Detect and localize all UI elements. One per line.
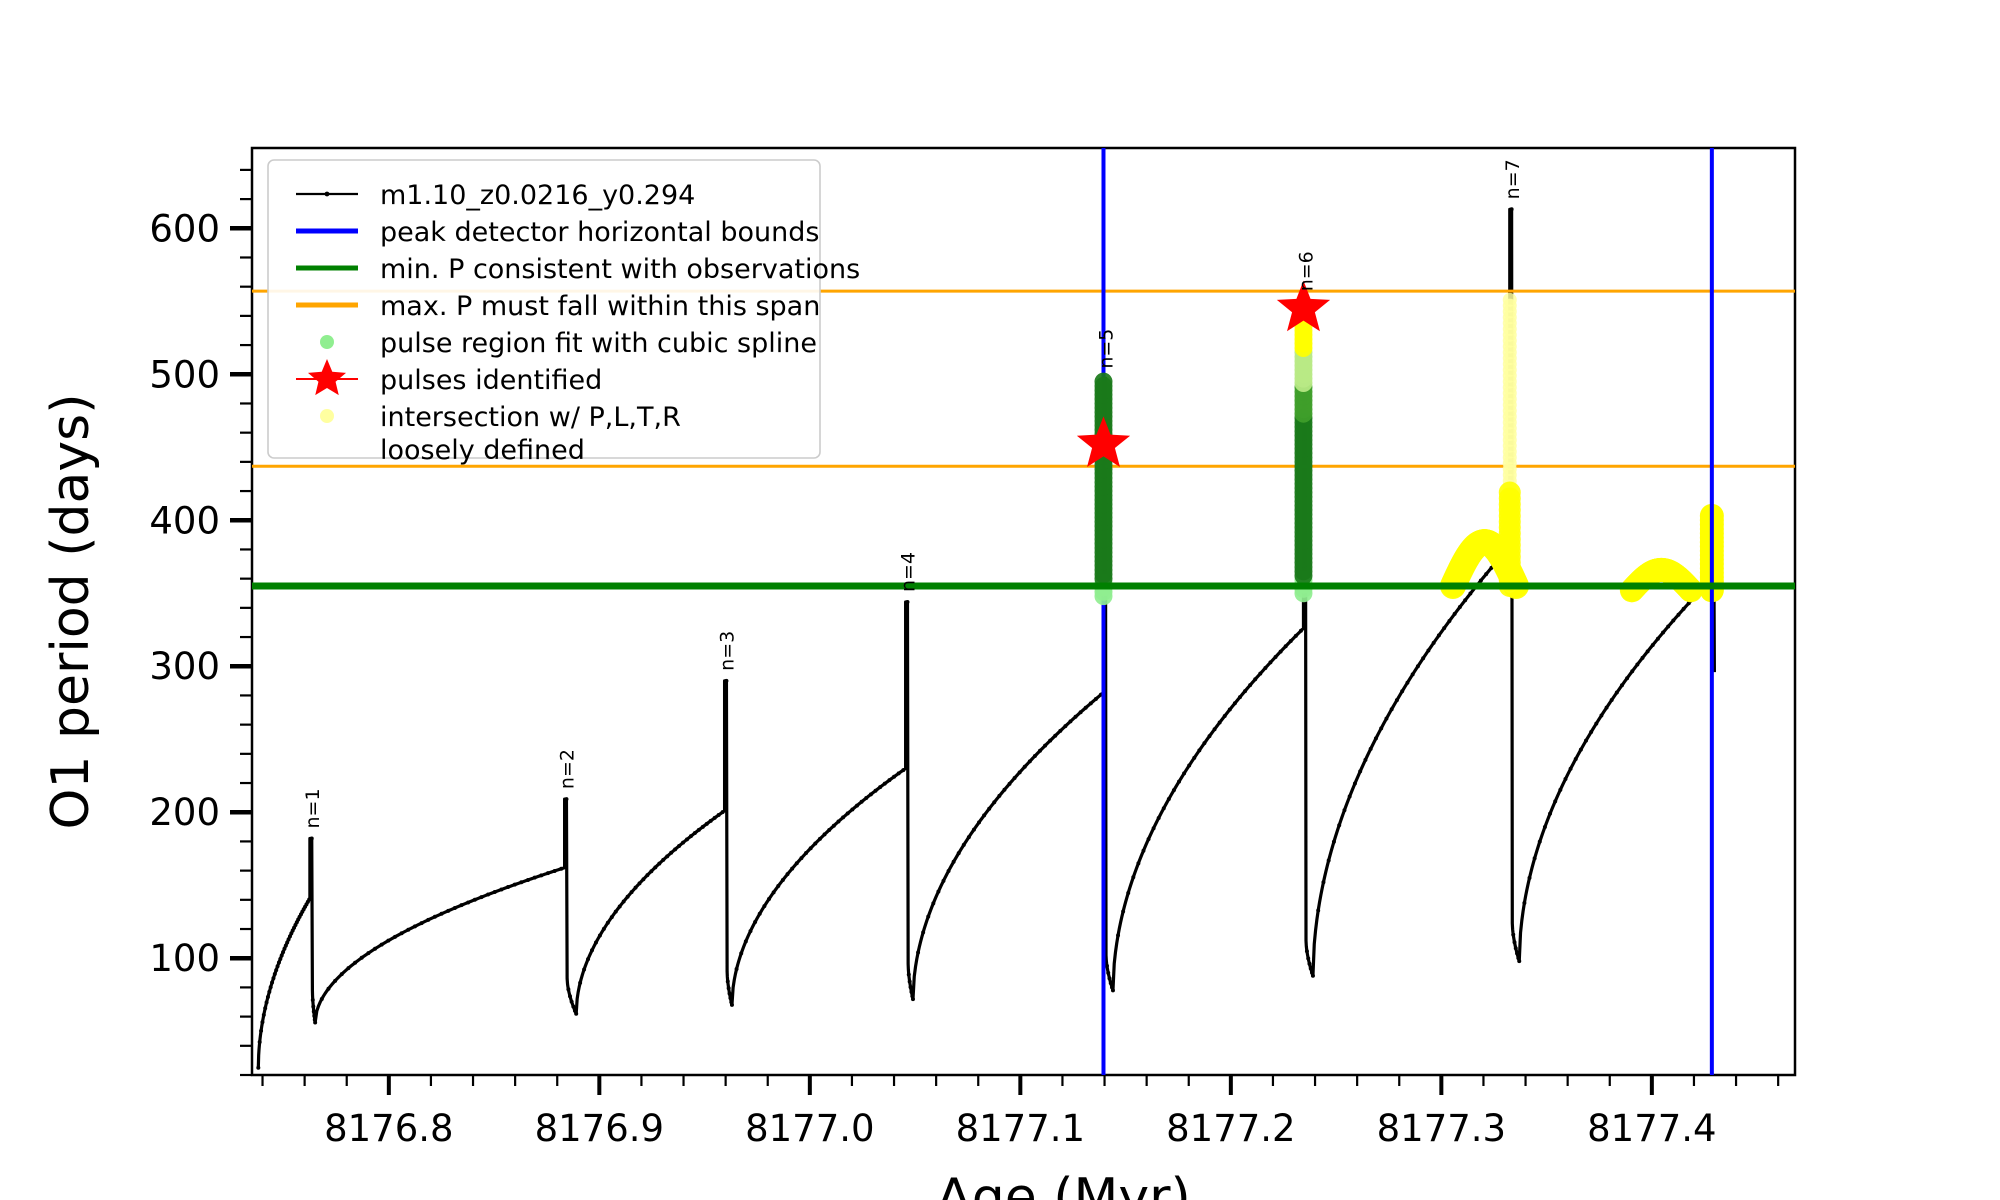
data-point [582,967,586,971]
data-point [1013,776,1017,780]
data-point [941,879,945,883]
data-point [657,862,661,866]
data-point [578,981,582,985]
data-point [266,995,270,999]
data-point [1311,974,1315,978]
data-point [1063,724,1067,728]
data-point [1309,967,1313,971]
data-point [1074,715,1078,719]
data-point [626,895,630,899]
y-tick-label: 600 [149,207,220,250]
data-point [1327,858,1331,862]
data-point [1008,782,1012,786]
data-point [273,972,277,976]
data-point [992,800,996,804]
data-point [546,871,550,875]
data-point [804,851,808,855]
data-point [1468,592,1472,596]
x-tick-label: 8177.4 [1587,1107,1716,1150]
data-point [967,835,971,839]
data-point [1569,767,1573,771]
data-point [340,972,344,976]
data-point [1141,849,1145,853]
data-point [1192,756,1196,760]
legend-label: peak detector horizontal bounds [380,217,819,248]
data-point [724,679,728,683]
data-point [274,968,278,972]
data-point [713,816,717,820]
data-point [717,813,721,817]
data-point [453,906,457,910]
data-point [697,828,701,832]
data-point [874,789,878,793]
data-point [333,979,337,983]
data-point [685,837,689,841]
data-point [278,957,282,961]
data-point [446,909,450,913]
data-point [1162,806,1166,810]
data-point [1584,739,1588,743]
data-point [420,921,424,925]
data-point [883,782,887,786]
data-point [1002,788,1006,792]
peak-annotation: n=2 [557,749,579,789]
data-point [1369,747,1373,751]
data-point [1274,655,1278,659]
data-point [1395,698,1399,702]
data-point [568,994,572,998]
data-point [262,1013,266,1017]
data-point [855,804,859,808]
data-point [1084,706,1088,710]
data-point [1182,771,1186,775]
data-point [1131,875,1135,879]
legend-swatch [320,335,334,349]
data-point [598,933,602,937]
data-point [400,931,404,935]
data-point [1043,744,1047,748]
data-point [1615,691,1619,695]
data-point [952,860,956,864]
data-point [1558,788,1562,792]
data-point [813,841,817,845]
data-point [1253,677,1257,681]
data-point [1094,697,1098,701]
data-point [887,778,891,782]
data-point [1105,964,1109,968]
data-point [1671,619,1675,623]
data-point [1289,639,1293,643]
peak-annotation: n=5 [1095,329,1117,369]
data-point [1384,717,1388,721]
data-point [709,819,713,823]
data-point [1484,572,1488,576]
data-point [1048,739,1052,743]
data-point [1121,909,1125,913]
intersection-blob [1679,578,1703,602]
data-point [360,956,364,960]
legend-swatch-dot [325,192,330,197]
data-point [1479,579,1483,583]
data-point [649,869,653,873]
data-point [1058,729,1062,733]
data-point [1109,981,1113,985]
data-point [1579,748,1583,752]
x-tick-label: 8177.0 [745,1107,874,1150]
data-point [570,1000,574,1004]
data-point [586,957,590,961]
data-point [827,828,831,832]
data-point [1553,799,1557,803]
data-point [1666,625,1670,629]
data-point [841,815,845,819]
x-tick-label: 8177.1 [956,1107,1085,1150]
data-point [590,948,594,952]
data-point [259,1029,263,1033]
data-point [1299,629,1303,633]
data-point [823,832,827,836]
data-point [1610,698,1614,702]
data-point [832,824,836,828]
data-point [1126,891,1130,895]
data-point [622,899,626,903]
data-point [353,961,357,965]
data-point [669,851,673,855]
chart-canvas: 8176.88176.98177.08177.18177.28177.38177… [0,0,2000,1200]
data-point [758,912,762,916]
data-point [1390,707,1394,711]
data-point [744,939,748,943]
data-point [735,967,739,971]
data-point [909,990,913,994]
data-point [1306,956,1310,960]
data-point [987,807,991,811]
data-point [320,997,324,1001]
peak-annotation: n=6 [1295,251,1317,291]
x-tick-label: 8176.8 [324,1107,453,1150]
data-point [271,976,275,980]
data-point [426,918,430,922]
data-point [1228,708,1232,712]
data-point [256,1066,260,1070]
data-point [1599,714,1603,718]
data-point [1563,777,1567,781]
data-point [1594,722,1598,726]
data-point [486,893,490,897]
data-point [1089,701,1093,705]
data-point [1167,797,1171,801]
y-tick-label: 500 [149,353,220,396]
data-point [533,876,537,880]
data-point [665,854,669,858]
data-point [630,890,634,894]
data-point [326,987,330,991]
data-point [258,1040,262,1044]
data-point [892,775,896,779]
data-point [1342,808,1346,812]
peak-annotation: n=4 [898,552,920,592]
data-point [1625,676,1629,680]
data-point [506,885,510,889]
data-point [1682,607,1686,611]
data-point [466,900,470,904]
data-point [1453,612,1457,616]
data-point [878,785,882,789]
data-point [311,998,315,1002]
legend-swatch [320,409,334,423]
data-point [1426,648,1430,652]
y-tick-label: 400 [149,499,220,542]
data-point [957,851,961,855]
data-point [1028,759,1032,763]
data-point [1513,940,1517,944]
data-point [767,897,771,901]
data-point [1514,946,1518,950]
data-point [373,947,377,951]
data-point [393,935,397,939]
data-point [962,843,966,847]
data-point [1411,672,1415,676]
data-point [926,915,930,919]
data-point [493,890,497,894]
data-point [762,904,766,908]
data-point [701,825,705,829]
data-point [1279,650,1283,654]
data-point [267,990,271,994]
data-point [901,768,905,772]
data-point [1630,669,1634,673]
data-point [553,869,557,873]
y-tick-label: 300 [149,645,220,688]
data-point [634,886,638,890]
data-point [311,1004,315,1008]
data-point [1033,754,1037,758]
data-point [730,1003,734,1007]
data-point [977,820,981,824]
data-point [1511,933,1515,937]
data-point [1400,689,1404,693]
data-point [869,792,873,796]
data-point [1379,726,1383,730]
data-point [1437,633,1441,637]
x-tick-label: 8177.2 [1166,1107,1295,1150]
data-point [728,996,732,1000]
data-point [1316,909,1320,913]
data-point [594,941,598,945]
data-point [307,898,311,902]
data-point [1258,672,1262,676]
data-point [1023,765,1027,769]
x-tick-label: 8176.9 [535,1107,664,1150]
data-point [566,987,570,991]
peak-annotation: n=1 [302,788,324,828]
data-point [931,901,935,905]
data-point [947,869,951,873]
data-point [693,831,697,835]
data-point [936,890,940,894]
data-point [380,943,384,947]
data-point [386,939,390,943]
data-point [1213,727,1217,731]
intersection-blob [1503,293,1517,307]
data-point [346,966,350,970]
data-point [539,873,543,877]
data-point [277,961,281,965]
data-point [795,861,799,865]
data-point [1018,770,1022,774]
data-point [1187,764,1191,768]
data-point [638,881,642,885]
data-point [786,872,790,876]
data-point [606,921,610,925]
data-point [1238,695,1242,699]
data-point [1233,701,1237,705]
data-point [645,873,649,877]
data-point [799,856,803,860]
data-point [739,951,743,955]
data-point [1307,962,1311,966]
data-point [1646,649,1650,653]
data-point [1263,666,1267,670]
peak-annotation: n=3 [717,631,739,671]
data-point [1107,976,1111,980]
data-point [433,915,437,919]
legend-label: pulse region fit with cubic spline [380,328,817,359]
data-point [1651,643,1655,647]
data-point [1574,757,1578,761]
data-point [1405,681,1409,685]
data-point [366,951,370,955]
data-point [1447,619,1451,623]
data-point [1533,856,1537,860]
data-point [908,980,912,984]
data-point [860,800,864,804]
data-point [1661,631,1665,635]
data-point [850,807,854,811]
legend-label-line2: loosely defined [380,435,585,466]
data-point [897,771,901,775]
data-point [673,847,677,851]
legend-label: min. P consistent with observations [380,254,860,285]
data-point [276,964,280,968]
data-point [772,890,776,894]
data-point [263,1006,267,1010]
data-point [1152,826,1156,830]
data-point [1432,641,1436,645]
pulse-spline-point [1094,373,1112,391]
data-point [653,865,657,869]
data-point [1268,660,1272,664]
data-point [499,888,503,892]
data-point [1458,605,1462,609]
data-point [818,837,822,841]
data-point [1038,749,1042,753]
data-point [727,986,731,990]
data-point [1416,664,1420,668]
data-point [661,858,665,862]
data-point [1106,971,1110,975]
data-point [260,1020,264,1024]
data-point [1353,782,1357,786]
data-point [1517,959,1521,963]
data-point [748,929,752,933]
data-point [513,883,517,887]
data-point [721,810,725,814]
legend-entry[interactable]: min. P consistent with observations [296,254,860,285]
data-point [1136,861,1140,865]
data-point [728,992,732,996]
data-point [753,920,757,924]
data-point [1147,837,1151,841]
data-point [1321,880,1325,884]
data-point [1421,656,1425,660]
data-point [905,600,909,604]
data-point [1442,626,1446,630]
data-point [406,928,410,932]
data-point [479,895,483,899]
data-point [1207,734,1211,738]
data-point [1223,714,1227,718]
data-point [1116,933,1120,937]
data-point [312,1010,316,1014]
data-point [571,1004,575,1008]
data-point [1528,876,1532,880]
y-tick-label: 100 [149,937,220,980]
data-point [836,820,840,824]
data-point [1348,794,1352,798]
data-point [610,915,614,919]
intersection-blob [1499,482,1521,504]
data-point [1332,840,1336,844]
data-point [1305,949,1309,953]
data-point [614,910,618,914]
data-point [519,880,523,884]
legend-label: intersection w/ P,L,T,R [380,402,681,433]
data-point [909,985,913,989]
data-point [781,878,785,882]
data-point [1463,598,1467,602]
data-point [1548,812,1552,816]
figure-container: 8176.88176.98177.08177.18177.28177.38177… [0,0,2000,1200]
data-point [726,980,730,984]
data-point [459,903,463,907]
data-point [1635,663,1639,667]
data-point [1358,769,1362,773]
peak-annotation: n=7 [1502,159,1524,199]
data-point [982,813,986,817]
legend-entry[interactable]: pulse region fit with cubic spline [320,328,817,359]
legend-label: pulses identified [380,365,602,396]
data-point [1543,825,1547,829]
data-point [473,898,477,902]
data-point [1157,816,1161,820]
x-tick-label: 8177.3 [1377,1107,1506,1150]
data-point [907,973,911,977]
legend-label: m1.10_z0.0216_y0.294 [380,180,695,211]
data-point [526,878,530,882]
data-point [1284,644,1288,648]
data-point [564,797,568,801]
data-point [921,930,925,934]
data-point [1172,788,1176,792]
data-point [618,904,622,908]
data-point [312,1014,316,1018]
data-point [559,867,563,871]
data-point [677,844,681,848]
data-point [911,997,915,1001]
data-point [1605,706,1609,710]
data-point [1522,901,1526,905]
